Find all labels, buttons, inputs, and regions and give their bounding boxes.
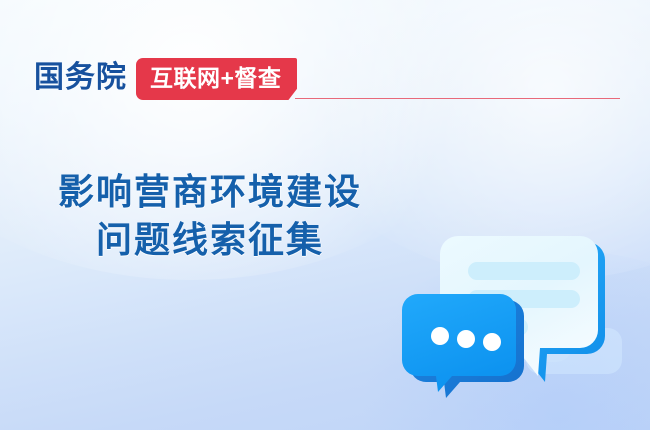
banner-root: 国务院 互联网+督查 影响营商环境建设 问题线索征集 (0, 0, 650, 430)
chat-bubbles-illustration (398, 210, 638, 410)
message-bubble-small (402, 294, 524, 398)
page-title: 影响营商环境建设 问题线索征集 (0, 168, 420, 264)
header-divider-rule (295, 98, 620, 99)
page-title-line-1: 影响营商环境建设 (0, 168, 420, 216)
page-title-line-2: 问题线索征集 (0, 216, 420, 264)
internet-plus-supervision-badge: 互联网+督查 (136, 58, 297, 100)
header-lockup: 国务院 互联网+督查 (34, 57, 620, 101)
gov-name-label: 国务院 (34, 63, 127, 95)
badge-wrapper: 互联网+督查 (136, 58, 297, 100)
